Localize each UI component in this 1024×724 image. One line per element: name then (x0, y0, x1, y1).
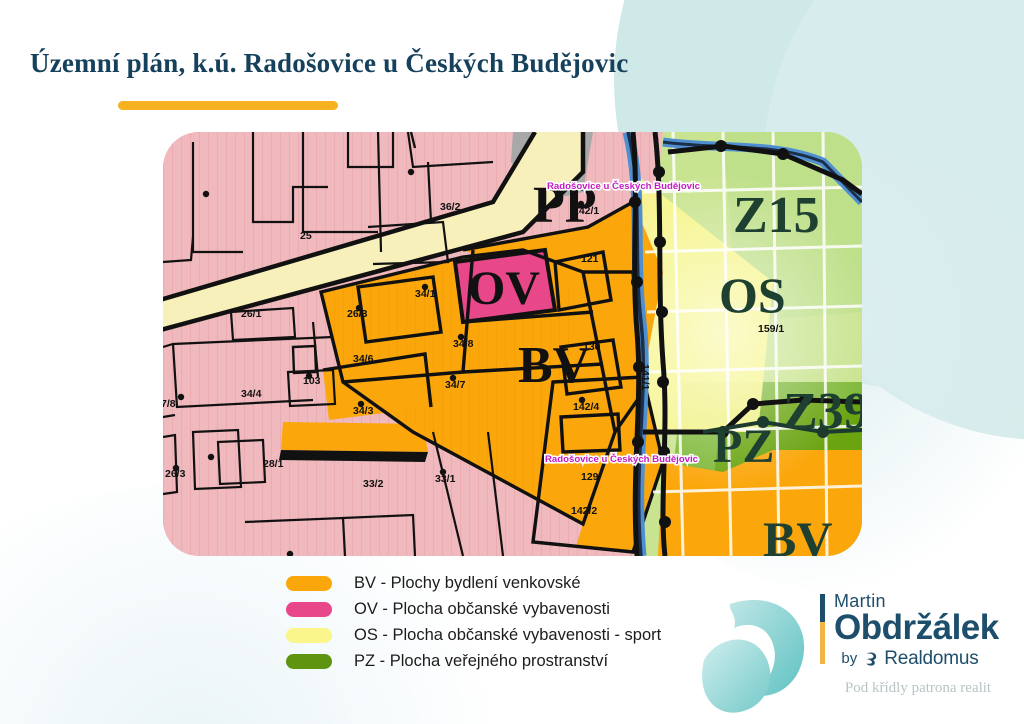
legend-item-pz: PZ - Plocha veřejného prostranství (286, 648, 661, 674)
cadastral-map[interactable]: PP OV BV Z15 OS Z39 PZ BV 36/2 25 26/1 2… (163, 132, 862, 556)
parcel-36-2: 36/2 (440, 201, 461, 213)
legend-label-os: OS - Plocha občanské vybavenosti - sport (354, 626, 661, 645)
parcel-129: 129 (581, 471, 599, 483)
page-title: Územní plán, k.ú. Radošovice u Českých B… (30, 48, 628, 79)
title-underline-accent (118, 101, 338, 110)
legend-item-os: OS - Plocha občanské vybavenosti - sport (286, 622, 661, 648)
slide-root: Územní plán, k.ú. Radošovice u Českých B… (0, 0, 1024, 724)
logo-by-word: by (841, 650, 857, 667)
realdomus-swirl-icon (862, 650, 879, 667)
legend-swatch-os (286, 628, 332, 643)
zone-label-bv2: BV (763, 511, 832, 556)
legend-item-ov: OV - Plocha občanské vybavenosti (286, 596, 661, 622)
parcel-130: 130 (583, 341, 601, 353)
legend-label-bv: BV - Plochy bydlení venkovské (354, 574, 581, 593)
legend-swatch-pz (286, 654, 332, 669)
zone-label-z15: Z15 (733, 187, 820, 244)
company-logo[interactable]: Martin Obdržálek by Realdomus (820, 592, 1000, 670)
legend-swatch-bv (286, 576, 332, 591)
legend-item-bv: BV - Plochy bydlení venkovské (286, 570, 661, 596)
parcel-34-8: 34/8 (453, 338, 474, 350)
parcel-25: 25 (300, 230, 312, 242)
parcel-141-1: 141/1 (639, 364, 651, 390)
legend-swatch-ov (286, 602, 332, 617)
wave-decoration-icon (694, 588, 822, 716)
map-canvas: PP OV BV Z15 OS Z39 PZ BV 36/2 25 26/1 2… (163, 132, 862, 556)
logo-byline: by Realdomus (820, 648, 1000, 670)
parcel-142-2: 142/2 (571, 505, 597, 517)
parcel-7-8: 7/8 (163, 398, 176, 410)
parcel-33-2: 33/2 (363, 478, 384, 490)
parcel-33-1: 33/1 (435, 473, 456, 485)
zone-label-ov: OV (468, 262, 540, 315)
cadastre-label-2: Radošovice u Českých Budějovic (545, 453, 699, 465)
logo-last-name: Obdržálek (834, 610, 1000, 647)
logo-accent-bar (820, 594, 825, 664)
parcel-28-1: 28/1 (263, 458, 284, 470)
legend-label-pz: PZ - Plocha veřejného prostranství (354, 652, 608, 671)
parcel-26-1: 26/1 (241, 308, 262, 320)
logo-brand-name: Realdomus (884, 648, 978, 670)
parcel-159-1: 159/1 (758, 323, 784, 335)
zone-label-pz: PZ (713, 420, 774, 473)
map-legend: BV - Plochy bydlení venkovské OV - Ploch… (286, 570, 661, 674)
logo-tagline: Pod křídly patrona realit (818, 680, 1018, 697)
parcel-34-6: 34/6 (353, 353, 374, 365)
legend-label-ov: OV - Plocha občanské vybavenosti (354, 600, 610, 619)
parcel-142-4: 142/4 (573, 401, 599, 413)
parcel-142-1: 142/1 (573, 205, 599, 217)
parcel-34-7: 34/7 (445, 379, 466, 391)
zone-label-os: OS (719, 267, 786, 323)
parcel-34-4: 34/4 (241, 388, 262, 400)
parcel-34-3: 34/3 (353, 405, 374, 417)
zone-label-bv: BV (518, 337, 590, 394)
cadastre-label-1: Radošovice u Českých Budějovic (547, 180, 701, 192)
parcel-121: 121 (581, 253, 599, 265)
zone-label-z39: Z39 (783, 383, 862, 440)
